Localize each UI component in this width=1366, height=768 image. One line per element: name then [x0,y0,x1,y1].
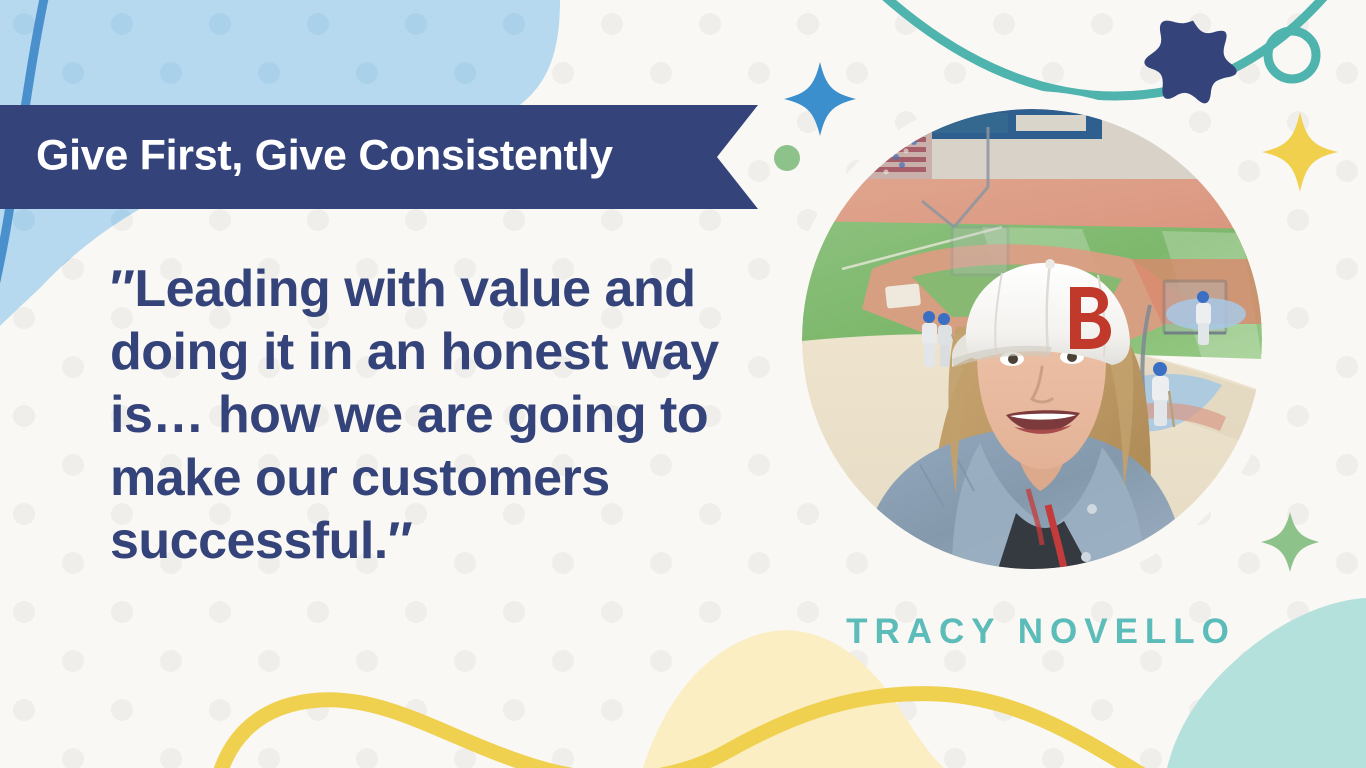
sparkle-green-icon [1261,512,1319,572]
sparkle-yellow-icon [1262,112,1338,192]
ring-teal-icon [1268,31,1316,79]
curve-top-right [880,0,1330,96]
speaker-photo [802,109,1262,569]
sparkle-blue-icon [784,62,856,136]
dot-green-icon [774,145,800,171]
wave-yellow [214,694,1190,768]
speaker-photo-frame [793,100,1271,578]
quote-slide: Give First, Give Consistently ″Leading w… [0,0,1366,768]
ribbon-title: Give First, Give Consistently [36,132,613,181]
star-navy-icon [1144,21,1236,104]
speaker-name: TRACY NOVELLO [826,612,1256,652]
quote-text: ″Leading with value and doing it in an h… [110,258,720,573]
title-ribbon: Give First, Give Consistently [0,105,758,209]
